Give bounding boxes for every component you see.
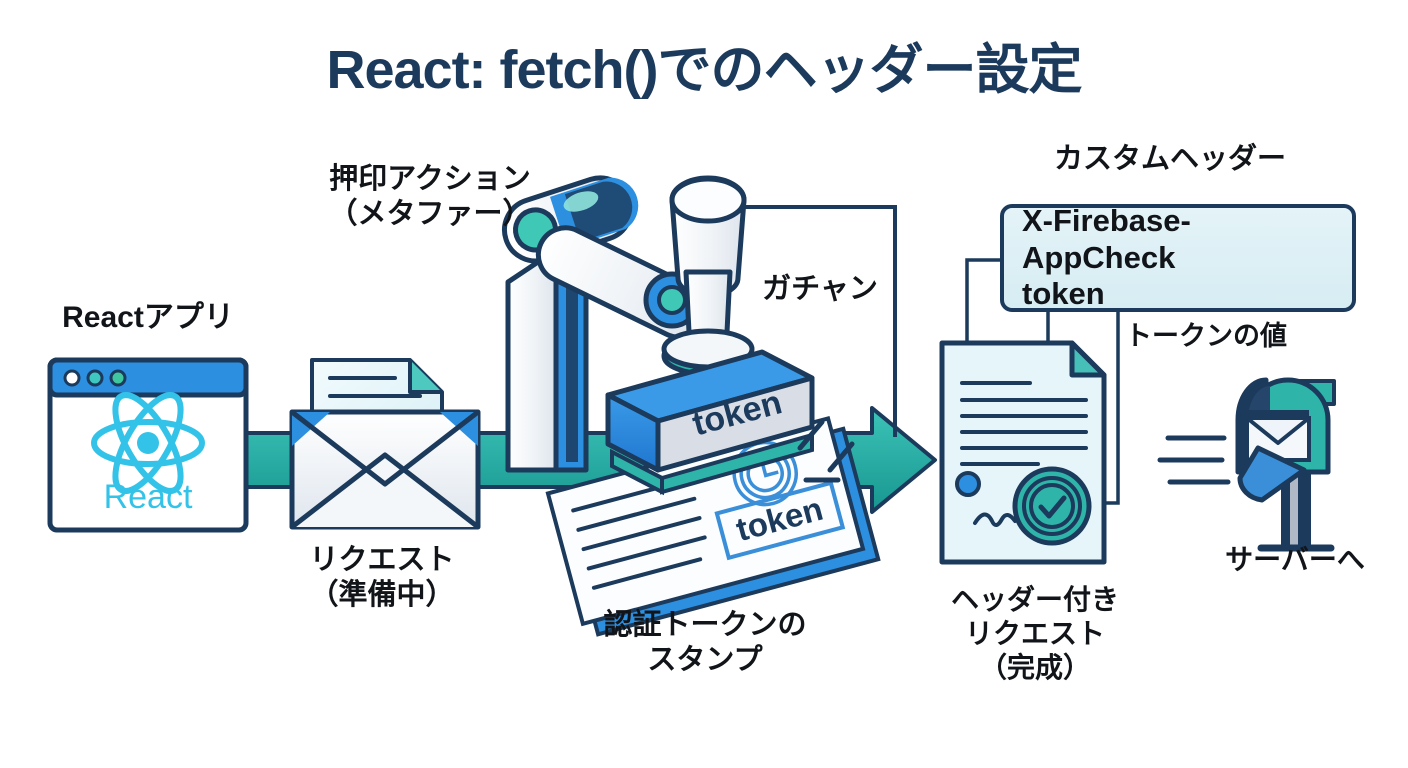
request-envelope: [292, 360, 478, 527]
speed-lines-icon: [1160, 438, 1228, 482]
label-request: リクエスト （準備中）: [262, 543, 502, 614]
page-title: React: fetch()でのヘッダー設定: [0, 38, 1408, 104]
label-stamp-caption: 認証トークンの スタンプ: [570, 608, 840, 679]
verified-seal-icon: [1015, 469, 1089, 543]
label-robot-action: 押印アクション （メタファー）: [300, 162, 560, 233]
label-token-value: トークンの値: [1125, 320, 1345, 353]
label-final-request: ヘッダー付き リクエスト （完成）: [900, 583, 1170, 685]
server-mailbox: [1160, 380, 1334, 548]
diagram-canvas: token: [0, 0, 1408, 768]
label-stamp-sound: ガチャン: [740, 272, 900, 307]
label-custom-header: カスタムヘッダー: [1020, 142, 1320, 177]
custom-header-box-line2: token: [1022, 276, 1334, 313]
label-server: サーバーへ: [1185, 543, 1405, 577]
custom-header-box: X-Firebase-AppCheck token: [1000, 204, 1356, 312]
label-react-app: Reactアプリ: [28, 300, 268, 337]
final-request-document: [942, 343, 1104, 562]
react-logo-wordmark: React: [50, 478, 246, 517]
custom-header-box-line1: X-Firebase-AppCheck: [1022, 203, 1334, 276]
